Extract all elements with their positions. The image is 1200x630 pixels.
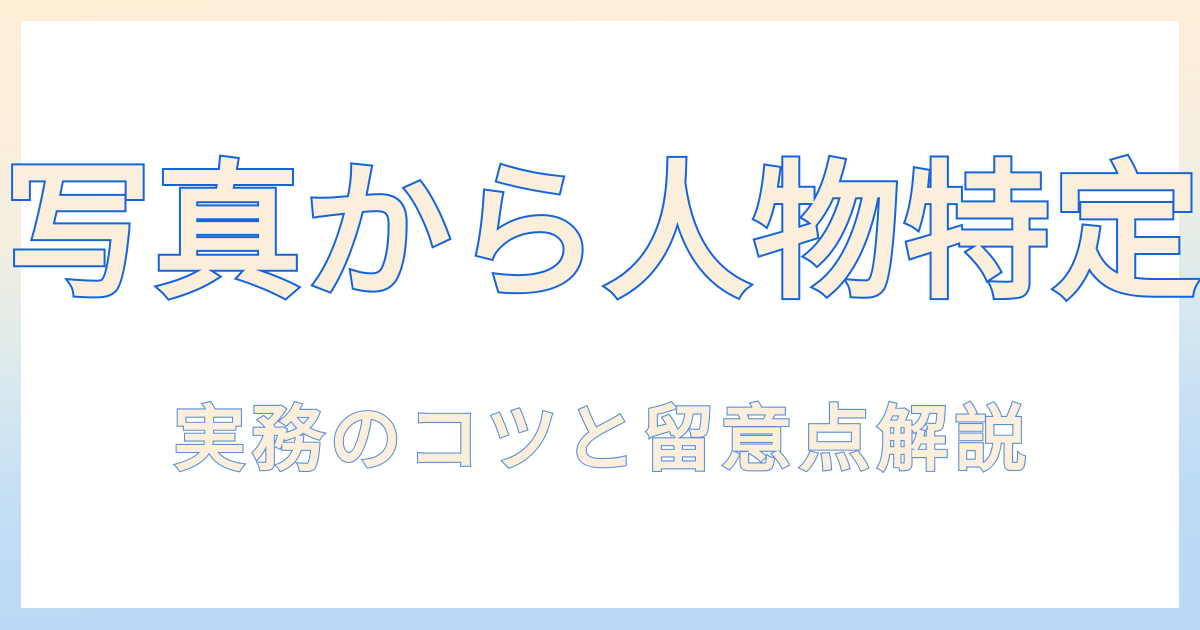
subtitle-container: 実務のコツと留意点解説: [21, 403, 1179, 475]
title-container: 写真から人物特定: [21, 159, 1179, 307]
poster-card: 写真から人物特定 実務のコツと留意点解説: [21, 21, 1179, 608]
page-title: 写真から人物特定: [0, 159, 1200, 307]
poster-canvas: 写真から人物特定 実務のコツと留意点解説: [0, 0, 1200, 630]
page-subtitle: 実務のコツと留意点解説: [167, 403, 1032, 475]
